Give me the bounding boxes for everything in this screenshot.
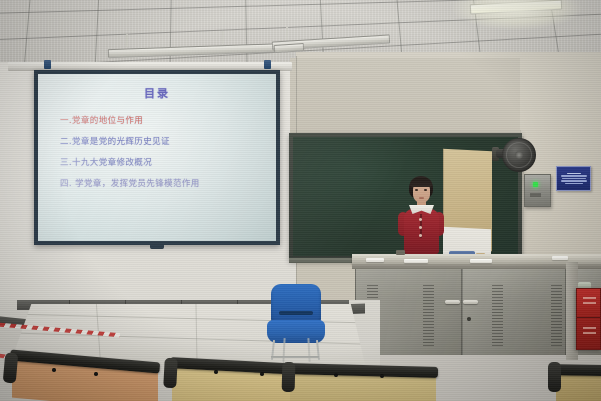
cabinet-handle-right[interactable] xyxy=(463,300,478,304)
screen-bracket xyxy=(264,60,271,69)
desk-bolt xyxy=(94,372,98,376)
mouth xyxy=(419,197,424,199)
fire-extinguisher-cabinet[interactable] xyxy=(576,288,601,350)
chair-backrest xyxy=(271,284,321,324)
cabinet-handle-left[interactable] xyxy=(445,300,460,304)
screen-bracket xyxy=(44,60,51,69)
far-wall-above-board xyxy=(290,58,520,136)
cabinet-vent xyxy=(492,285,503,347)
fire-box-label xyxy=(583,302,596,304)
projection-screen-surface: 目录 一.党章的地位与作用 二.党章是党的光辉历史见证 三.十九大党章修改概况 … xyxy=(38,74,276,241)
cabinet-vent xyxy=(423,285,434,347)
electrical-control-box[interactable] xyxy=(524,174,551,207)
wall-fan[interactable] xyxy=(496,138,536,174)
paper-sheet xyxy=(366,258,384,262)
sign-text-line xyxy=(565,183,583,185)
student-desk[interactable] xyxy=(0,352,150,401)
light-hanger xyxy=(286,27,288,40)
desk-bolt xyxy=(260,372,264,376)
eye-right xyxy=(424,189,427,191)
cabinet-vent xyxy=(551,285,562,347)
blue-notice-sign xyxy=(556,166,591,191)
presentation-slide: 目录 一.党章的地位与作用 二.党章是党的光辉历史见证 三.十九大党章修改概况 … xyxy=(38,74,276,241)
desk-endcap xyxy=(282,362,296,392)
floor-tile-line xyxy=(195,304,197,364)
light-hanger xyxy=(222,31,224,44)
desk-bolt xyxy=(52,368,56,372)
fire-box-label xyxy=(583,332,596,334)
desk-endcap xyxy=(548,362,561,392)
desk-bolt xyxy=(214,370,218,374)
cabinet-lock-icon[interactable] xyxy=(467,317,471,321)
paper-sheet xyxy=(552,256,568,260)
desk-small-object xyxy=(396,250,405,255)
desk-endcap xyxy=(163,358,178,389)
student-desk[interactable] xyxy=(540,362,601,401)
desk-bolt xyxy=(334,373,338,377)
sign-text-line xyxy=(562,178,586,180)
hair-fringe xyxy=(410,178,432,187)
student-desk[interactable] xyxy=(268,362,428,401)
slide-item-3: 三.十九大党章修改概况 xyxy=(60,156,268,168)
podium-cabinet[interactable] xyxy=(355,269,601,355)
chair-back-slot xyxy=(279,311,313,315)
fire-box-label xyxy=(583,327,596,329)
fire-box-divider xyxy=(577,317,600,318)
classroom-scene: 目录 一.党章的地位与作用 二.党章是党的光辉历史见证 三.十九大党章修改概况 … xyxy=(0,0,601,401)
sign-text-line xyxy=(561,180,587,182)
eye-left xyxy=(415,189,418,191)
sign-text-line xyxy=(561,175,587,177)
control-box-label xyxy=(530,193,541,197)
sign-text-line xyxy=(567,173,581,175)
slide-item-1: 一.党章的地位与作用 xyxy=(60,114,268,126)
paper-sheet xyxy=(404,259,428,263)
paper-sheet xyxy=(470,259,492,263)
slide-item-2: 二.党章是党的光辉历史见证 xyxy=(60,135,268,147)
projection-screen[interactable]: 目录 一.党章的地位与作用 二.党章是党的光辉历史见证 三.十九大党章修改概况 … xyxy=(34,70,280,245)
slide-item-4: 四. 学党章，发挥党员先锋模范作用 xyxy=(60,177,268,189)
fire-box-label xyxy=(583,297,596,299)
shirt-button xyxy=(419,218,422,221)
speaker-person xyxy=(395,176,447,256)
screen-pull-tab[interactable] xyxy=(150,245,164,249)
desk-endcap xyxy=(3,352,19,383)
shirt-button xyxy=(419,234,422,237)
status-led-icon xyxy=(533,182,538,187)
shirt-button xyxy=(419,226,422,229)
desk-bolt xyxy=(380,374,384,378)
light-hanger xyxy=(126,34,128,47)
slide-title: 目录 xyxy=(46,85,268,101)
fan-hub xyxy=(515,151,523,159)
blue-plastic-chair[interactable] xyxy=(265,284,327,362)
